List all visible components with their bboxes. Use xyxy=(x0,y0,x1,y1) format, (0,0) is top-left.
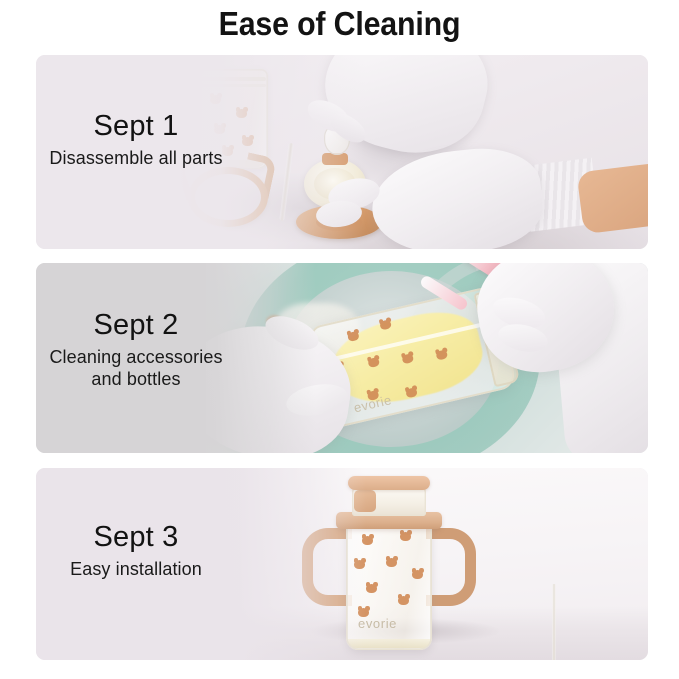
bottle-lip xyxy=(202,84,266,87)
step-panel-3: evorie Sept 3 Easy installation xyxy=(36,468,648,660)
step-3-title: Sept 3 xyxy=(36,522,236,552)
bear-pattern-icon xyxy=(362,536,373,545)
step-2-description: Cleaning accessories and bottles xyxy=(36,347,236,391)
straw xyxy=(552,584,556,660)
step-2-description-line-1: Cleaning accessories xyxy=(36,347,236,369)
bear-pattern-icon xyxy=(236,109,247,118)
step-2-text: Sept 2 Cleaning accessories and bottles xyxy=(36,310,236,391)
bear-pattern-icon xyxy=(400,532,411,541)
forearm xyxy=(577,162,648,235)
bear-pattern-icon xyxy=(242,137,253,146)
bear-pattern-icon xyxy=(210,95,221,104)
bear-pattern-icon xyxy=(398,596,409,605)
bear-pattern-icon xyxy=(366,584,377,593)
step-1-photo xyxy=(176,55,648,249)
step-panel-2: evorie Sept 2 Cleaning accessories and b… xyxy=(36,263,648,453)
handle-right xyxy=(426,528,476,606)
flip-lid-top xyxy=(348,476,430,490)
bottle-lip xyxy=(202,77,266,81)
step-2-description-line-2: and bottles xyxy=(36,369,236,391)
page-title: Ease of Cleaning xyxy=(27,5,652,43)
bear-pattern-icon xyxy=(354,560,365,569)
handle-left xyxy=(302,528,352,606)
step-3-text: Sept 3 Easy installation xyxy=(36,522,236,581)
step-3-photo: evorie xyxy=(186,468,648,660)
step-1-description: Disassemble all parts xyxy=(36,148,236,170)
step-2-photo: evorie xyxy=(206,263,648,453)
step-2-title: Sept 2 xyxy=(36,310,236,340)
step-1-title: Sept 1 xyxy=(36,111,236,141)
bear-pattern-icon xyxy=(386,558,397,567)
step-3-description: Easy installation xyxy=(36,559,236,581)
lid-latch xyxy=(354,490,376,512)
brand-text: evorie xyxy=(358,616,397,631)
bottle-base xyxy=(348,639,430,648)
step-1-text: Sept 1 Disassemble all parts xyxy=(36,111,236,170)
ease-of-cleaning-infographic: Ease of Cleaning xyxy=(0,0,679,679)
handle-ring xyxy=(188,167,268,227)
step-panel-1: Sept 1 Disassemble all parts xyxy=(36,55,648,249)
bear-pattern-icon xyxy=(412,570,423,579)
